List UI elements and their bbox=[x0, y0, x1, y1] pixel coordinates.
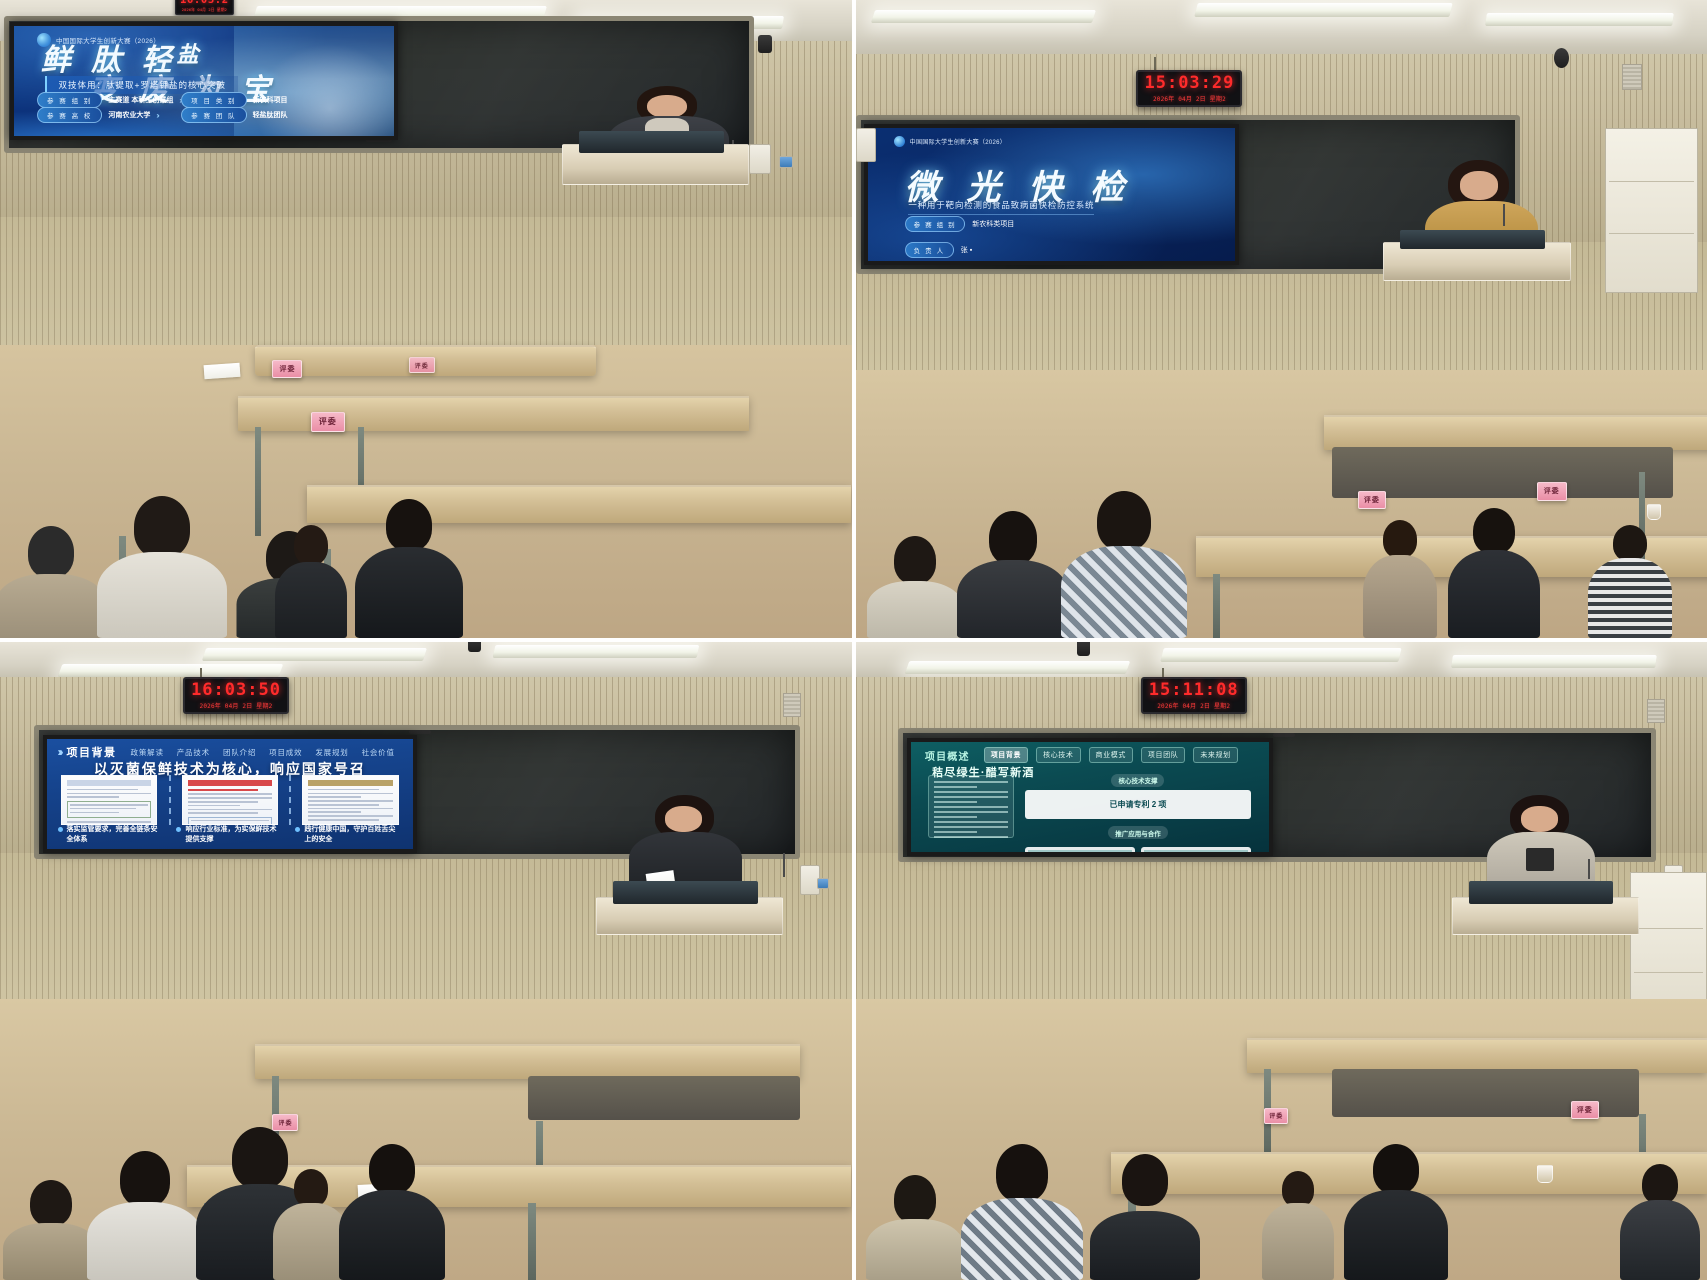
bullet-item: 响应行业标准，为实保鲜技术提供支撑 bbox=[176, 825, 283, 844]
judge-placard: 评委 bbox=[1264, 1108, 1288, 1124]
slide-right-panel: 核心技术支撑 已申请专利 2 项 推广应用与合作 不限规模村民加盟服务三体化 bbox=[1025, 770, 1251, 838]
doc-text-line bbox=[70, 804, 148, 806]
doc-text-line bbox=[67, 796, 119, 798]
title-accent: 盐 bbox=[177, 42, 204, 68]
presentation-screen: 项目概述 项目背景 核心技术 商业模式 项目团队 未来规划 秸尽绿生·醋写新酒 bbox=[907, 738, 1273, 856]
presenter-face bbox=[1521, 806, 1558, 832]
doc-text-line bbox=[308, 808, 392, 810]
divider bbox=[169, 775, 171, 826]
bullet-dot-icon bbox=[176, 827, 181, 832]
bullet-text: 落实监管要求，完善全链条安全体系 bbox=[67, 825, 165, 844]
panel-text-line bbox=[934, 801, 977, 803]
lectern-monitor bbox=[613, 881, 758, 903]
ceiling-speaker bbox=[1077, 642, 1090, 656]
audience-member bbox=[1051, 383, 1196, 638]
presenter-face bbox=[665, 806, 702, 832]
mini-card: 年度数据增长情况上游区域合作推广渠道扩展 bbox=[1141, 847, 1251, 855]
ceiling-light bbox=[870, 10, 1096, 23]
panel-text-line bbox=[934, 826, 1008, 828]
slide-left-panel bbox=[928, 775, 1014, 839]
audience-member bbox=[949, 1038, 1094, 1280]
slide-field: 参 赛 高 校 河南农业大学 ›› bbox=[37, 107, 158, 123]
nav-item[interactable]: 政策解读 bbox=[131, 747, 164, 758]
ceiling-light bbox=[57, 664, 283, 677]
torso bbox=[1620, 1200, 1700, 1280]
nav-tab[interactable]: 项目背景 bbox=[984, 747, 1028, 763]
wall-vent bbox=[783, 693, 801, 717]
nav-tab[interactable]: 项目团队 bbox=[1141, 747, 1185, 763]
bullet-text: 践行健康中国，守护百姓舌尖上的安全 bbox=[304, 825, 402, 844]
front-row-desk bbox=[255, 1044, 800, 1079]
wall-control-panel[interactable] bbox=[856, 128, 876, 162]
placard-label: 评委 bbox=[1269, 1111, 1283, 1120]
doc-text-line bbox=[308, 811, 360, 813]
judge-seated bbox=[324, 1076, 460, 1280]
microphone-stand bbox=[1588, 859, 1590, 879]
led-clock: 15:03:29 2026年 04月 2日 星期2 bbox=[1136, 70, 1242, 107]
doc-text-line bbox=[70, 808, 136, 810]
torso bbox=[1588, 558, 1672, 638]
panel-text-line bbox=[934, 786, 977, 788]
torso bbox=[1061, 546, 1187, 638]
bullet-dot-icon bbox=[295, 827, 300, 832]
projector-sensor bbox=[409, 730, 431, 734]
doc-text-line bbox=[188, 789, 259, 791]
field-key: 负 责 人 bbox=[905, 242, 954, 258]
slide-project-overview: 项目概述 项目背景 核心技术 商业模式 项目团队 未来规划 秸尽绿生·醋写新酒 bbox=[911, 742, 1269, 852]
head bbox=[1473, 508, 1515, 554]
desk-equipment-panel bbox=[528, 1076, 800, 1121]
torso bbox=[1448, 550, 1540, 638]
head bbox=[30, 1180, 72, 1226]
projector-sensor bbox=[1273, 733, 1295, 737]
field-value: 轻盐肽团队 bbox=[253, 110, 288, 120]
panel-text-line bbox=[934, 796, 1008, 798]
field-key: 参 赛 组 别 bbox=[37, 92, 102, 108]
doc-text-line bbox=[308, 815, 392, 817]
ceiling-speaker bbox=[758, 35, 772, 53]
doc-text-line bbox=[308, 789, 379, 791]
mini-text-line bbox=[1028, 850, 1132, 852]
pane-top-left: 16:03:2 2026年 04月 2日 星期2 中国国际大学生创新大赛（202… bbox=[0, 0, 852, 638]
doc-text-line bbox=[70, 812, 118, 814]
nav-item[interactable]: 团队介绍 bbox=[223, 747, 256, 758]
card-caption-wrap: 核心技术支撑 bbox=[1025, 770, 1251, 790]
judge-placard: 评委 bbox=[409, 357, 435, 373]
bullet-text: 响应行业标准，为实保鲜技术提供支撑 bbox=[185, 825, 283, 844]
wall-switch-panel[interactable] bbox=[779, 156, 793, 168]
audience-member bbox=[85, 370, 238, 638]
judge-seated bbox=[1571, 485, 1690, 638]
torso bbox=[1262, 1203, 1334, 1280]
doc-text-line bbox=[308, 819, 379, 821]
microphone-stand bbox=[1503, 204, 1505, 226]
divider bbox=[289, 775, 291, 826]
nav-tab[interactable]: 未来规划 bbox=[1193, 747, 1237, 763]
panel-text-line bbox=[934, 836, 1008, 838]
nav-item-active[interactable]: 项目概述 bbox=[925, 748, 970, 763]
doc-text-line bbox=[67, 789, 138, 791]
competition-logo-icon bbox=[894, 136, 905, 147]
slide-project-background: ››› 项目背景 政策解读 产品技术 团队介绍 项目成效 发展规划 社会价值 以… bbox=[47, 739, 414, 849]
audience-member bbox=[1077, 1063, 1213, 1280]
head bbox=[1122, 1154, 1168, 1206]
nav-item-active[interactable]: 项目背景 bbox=[67, 744, 117, 760]
clock-date: 2026年 04月 2日 星期2 bbox=[1149, 701, 1239, 710]
torso bbox=[339, 1190, 445, 1280]
nav-tab[interactable]: 商业模式 bbox=[1089, 747, 1133, 763]
presentation-screen: 中国国际大学生创新大赛（2026） 微 光 快 检 一种用于靶向检测的食品致病菌… bbox=[864, 124, 1239, 264]
wall-vent bbox=[1647, 699, 1665, 723]
cabinet-shelf-line bbox=[1634, 972, 1703, 973]
presentation-screen: 中国国际大学生创新大赛（2026） 鲜 肽 轻盐 变 废 为 宝 双技体用：肽提… bbox=[10, 22, 397, 140]
panel-text-line bbox=[934, 811, 1008, 813]
panel-text-line bbox=[934, 821, 1008, 823]
photo-grid: 16:03:2 2026年 04月 2日 星期2 中国国际大学生创新大赛（202… bbox=[0, 0, 1707, 1280]
slide-field-row: 参 赛 高 校 河南农业大学 ›› bbox=[37, 107, 158, 123]
mini-text-line bbox=[1028, 854, 1090, 856]
torso bbox=[1363, 555, 1437, 638]
field-value: 河南农业大学 bbox=[108, 110, 150, 120]
head bbox=[386, 499, 432, 551]
mini-text-line bbox=[1144, 850, 1248, 852]
field-value: 张 ▪ bbox=[961, 245, 972, 255]
ceiling-light bbox=[493, 645, 700, 658]
head bbox=[28, 526, 74, 578]
clock-time: 15:11:08 bbox=[1149, 682, 1239, 699]
doc-highlight-box bbox=[188, 817, 272, 826]
bullet-item: 落实监管要求，完善全链条安全体系 bbox=[58, 825, 165, 844]
mini-card-row: 不限规模村民加盟服务三体化产业链建设 年度数据增长情况上游区域合作推广渠道扩展 bbox=[1025, 847, 1251, 855]
clock-time: 15:03:29 bbox=[1144, 75, 1234, 92]
clock-time: 16:03:50 bbox=[191, 682, 281, 699]
clock-date: 2026年 04月 2日 星期2 bbox=[191, 701, 281, 710]
patent-card: 已申请专利 2 项 bbox=[1025, 790, 1251, 819]
torso bbox=[1090, 1211, 1200, 1280]
led-clock: 16:03:2 2026年 04月 2日 星期2 bbox=[175, 0, 234, 15]
panel-text-line bbox=[934, 831, 977, 833]
doc-text-line bbox=[308, 800, 392, 802]
pane-bottom-left: 16:03:50 2026年 04月 2日 星期2 ››› 项目背景 政策解读 … bbox=[0, 642, 852, 1280]
slide-title-page: 中国国际大学生创新大赛（2026） 鲜 肽 轻盐 变 废 为 宝 双技体用：肽提… bbox=[14, 26, 393, 136]
lectern-monitor bbox=[1400, 230, 1545, 249]
head bbox=[989, 511, 1037, 565]
field-key: 参 赛 团 队 bbox=[181, 107, 246, 123]
competition-header-text: 中国国际大学生创新大赛（2026） bbox=[910, 137, 1006, 146]
pane-top-right: 15:03:29 2026年 04月 2日 星期2 中国国际大学生创新大赛（20… bbox=[856, 0, 1707, 638]
doc-text-line bbox=[67, 793, 151, 795]
pane-bottom-right: 15:11:08 2026年 04月 2日 星期2 项目概述 项目背景 核心技术… bbox=[856, 642, 1707, 1280]
mini-text-line bbox=[1144, 854, 1206, 856]
panel-text-line bbox=[934, 816, 977, 818]
nav-tab[interactable]: 核心技术 bbox=[1036, 747, 1080, 763]
torso bbox=[97, 552, 227, 638]
wall-vent bbox=[1622, 64, 1642, 90]
policy-document bbox=[61, 775, 157, 826]
field-value: 主赛道 本科生创意组 bbox=[108, 95, 173, 105]
front-row-desk bbox=[1324, 415, 1707, 450]
judge-placard: 评委 bbox=[1571, 1101, 1599, 1119]
doc-text-line bbox=[188, 805, 240, 807]
head bbox=[1613, 525, 1647, 561]
field-key: 项 目 类 别 bbox=[181, 92, 246, 108]
ceiling-speaker bbox=[468, 642, 481, 652]
placard-label: 评委 bbox=[1577, 1105, 1593, 1115]
presenter-face bbox=[647, 95, 688, 118]
slide-weiguang: 中国国际大学生创新大赛（2026） 微 光 快 检 一种用于靶向检测的食品致病菌… bbox=[868, 128, 1235, 260]
lectern-monitor bbox=[579, 131, 724, 153]
judge-seated bbox=[1332, 1076, 1460, 1280]
doc-text-line bbox=[188, 801, 259, 803]
placard-label: 评委 bbox=[415, 361, 429, 370]
wall-control-panel[interactable] bbox=[749, 144, 771, 174]
doc-text-line bbox=[308, 804, 379, 806]
presenter-graphic-print bbox=[1526, 848, 1554, 870]
doc-text-line bbox=[188, 809, 272, 811]
paper-cup bbox=[1537, 1165, 1553, 1183]
slide-nav: ››› 项目背景 政策解读 产品技术 团队介绍 项目成效 发展规划 社会价值 bbox=[47, 744, 414, 760]
doc-text-line bbox=[188, 797, 272, 799]
head bbox=[1097, 491, 1151, 551]
torso bbox=[355, 547, 463, 638]
panel-text-line bbox=[934, 806, 1008, 808]
slide-field-row: 项 目 类 别 新农科项目 bbox=[181, 92, 287, 108]
led-clock: 16:03:50 2026年 04月 2日 星期2 bbox=[183, 677, 289, 714]
slide-bullets: 落实监管要求，完善全链条安全体系 响应行业标准，为实保鲜技术提供支撑 践行健康中… bbox=[58, 825, 403, 844]
judge-seated bbox=[1435, 447, 1554, 638]
ceiling-speaker bbox=[1554, 48, 1569, 68]
presentation-screen: ››› 项目背景 政策解读 产品技术 团队介绍 项目成效 发展规划 社会价值 以… bbox=[43, 735, 418, 853]
panel-text-line bbox=[934, 791, 1008, 793]
nav-item[interactable]: 项目成效 bbox=[269, 747, 302, 758]
head bbox=[120, 1151, 170, 1207]
slide-documents bbox=[61, 775, 398, 826]
head bbox=[134, 496, 190, 558]
field-key: 参 赛 组 别 bbox=[905, 216, 966, 232]
nav-item[interactable]: 产品技术 bbox=[177, 747, 210, 758]
ceiling-light bbox=[202, 648, 428, 661]
competition-header: 中国国际大学生创新大赛（2026） bbox=[894, 136, 1006, 147]
placard-label: 评委 bbox=[279, 364, 295, 374]
head bbox=[894, 1175, 936, 1223]
wall-switch-panel[interactable] bbox=[817, 878, 829, 889]
doc-text-line bbox=[308, 796, 360, 798]
slide-field: 参 赛 组 别 新农科类项目 bbox=[905, 216, 1015, 232]
microphone-stand bbox=[783, 853, 785, 877]
lectern-monitor bbox=[1469, 881, 1614, 903]
slide-field: 参 赛 团 队 轻盐肽团队 bbox=[181, 107, 287, 123]
bullet-dot-icon bbox=[58, 827, 63, 832]
doc-text-line bbox=[188, 812, 259, 814]
judge-seated bbox=[1605, 1114, 1707, 1280]
clock-date: 2026年 04月 2日 星期2 bbox=[180, 7, 229, 13]
doc-title-bar bbox=[308, 780, 392, 786]
ceiling-light bbox=[1160, 648, 1402, 662]
doc-text-line bbox=[67, 821, 151, 823]
head bbox=[894, 536, 936, 584]
side-cabinet[interactable] bbox=[1605, 128, 1699, 294]
torso bbox=[1344, 1190, 1448, 1280]
front-row-desk bbox=[1247, 1038, 1707, 1073]
doc-highlight-box bbox=[67, 801, 151, 818]
card-caption: 核心技术支撑 bbox=[1111, 774, 1164, 787]
slide-field: 负 责 人 张 ▪ bbox=[905, 242, 1015, 258]
head bbox=[1373, 1144, 1419, 1194]
doc-text-line bbox=[188, 793, 272, 795]
slide-subtitle: 一种用于靶向检测的食品致病菌快检防控系统 bbox=[908, 199, 1094, 215]
field-value: 新农科项目 bbox=[253, 95, 288, 105]
patent-value: 已申请专利 2 项 bbox=[1029, 793, 1247, 816]
cabinet-shelf-line bbox=[1609, 181, 1693, 182]
led-clock: 15:11:08 2026年 04月 2日 星期2 bbox=[1141, 677, 1247, 714]
judge-seated bbox=[341, 421, 477, 638]
side-cabinet[interactable] bbox=[1630, 872, 1707, 1012]
torso bbox=[961, 1198, 1083, 1280]
ceiling-light bbox=[1451, 655, 1657, 668]
slide-field-row: 参 赛 团 队 轻盐肽团队 bbox=[181, 107, 287, 123]
ceiling-light bbox=[904, 661, 1130, 674]
torso bbox=[275, 562, 347, 638]
card-caption-wrap: 推广应用与合作 bbox=[1025, 823, 1251, 843]
notice-document bbox=[302, 775, 398, 826]
presenter-face bbox=[1460, 171, 1498, 199]
desk-leg bbox=[1213, 574, 1220, 638]
head bbox=[1642, 1164, 1678, 1204]
ceiling-light bbox=[1194, 3, 1453, 17]
card-caption: 推广应用与合作 bbox=[1108, 826, 1168, 839]
chevron-right-icon: ›› bbox=[156, 111, 157, 120]
clock-date: 2026年 04月 2日 星期2 bbox=[1144, 94, 1234, 103]
clock-time: 16:03:2 bbox=[180, 0, 229, 6]
head bbox=[996, 1144, 1048, 1202]
nav-item[interactable]: 发展规划 bbox=[315, 747, 348, 758]
head bbox=[1282, 1171, 1314, 1207]
slide-field: 项 目 类 别 新农科项目 bbox=[181, 92, 287, 108]
head bbox=[1383, 520, 1417, 558]
ceiling-light bbox=[1485, 13, 1674, 26]
slide-field: 参 赛 组 别 主赛道 本科生创意组 ›› bbox=[37, 92, 181, 108]
bullet-item: 践行健康中国，守护百姓舌尖上的安全 bbox=[295, 825, 402, 844]
slide-nav: 项目概述 项目背景 核心技术 商业模式 项目团队 未来规划 bbox=[911, 747, 1269, 763]
head bbox=[294, 525, 328, 565]
cabinet-shelf-line bbox=[1634, 928, 1703, 929]
doc-text-line bbox=[308, 793, 392, 795]
nav-item[interactable]: 社会价值 bbox=[362, 747, 395, 758]
slide-fields: 参 赛 组 别 新农科类项目 负 责 人 张 ▪ bbox=[905, 216, 1015, 258]
doc-title-bar bbox=[188, 780, 272, 786]
head bbox=[369, 1144, 415, 1194]
field-value: 新农科类项目 bbox=[972, 219, 1014, 229]
standard-document bbox=[182, 775, 278, 826]
torso bbox=[87, 1202, 203, 1280]
judge-placard: 评委 bbox=[272, 360, 302, 378]
mini-card: 不限规模村民加盟服务三体化产业链建设 bbox=[1025, 847, 1135, 855]
doc-text-line bbox=[191, 820, 269, 822]
cabinet-shelf-line bbox=[1609, 233, 1693, 234]
field-key: 参 赛 高 校 bbox=[37, 107, 102, 123]
chevron-right-icon: ››› bbox=[58, 745, 61, 759]
panel-text-line bbox=[934, 781, 1008, 783]
doc-title-bar bbox=[67, 780, 151, 786]
desk-leg bbox=[528, 1203, 536, 1280]
slide-field-row: 参 赛 组 别 主赛道 本科生创意组 ›› bbox=[37, 92, 181, 108]
